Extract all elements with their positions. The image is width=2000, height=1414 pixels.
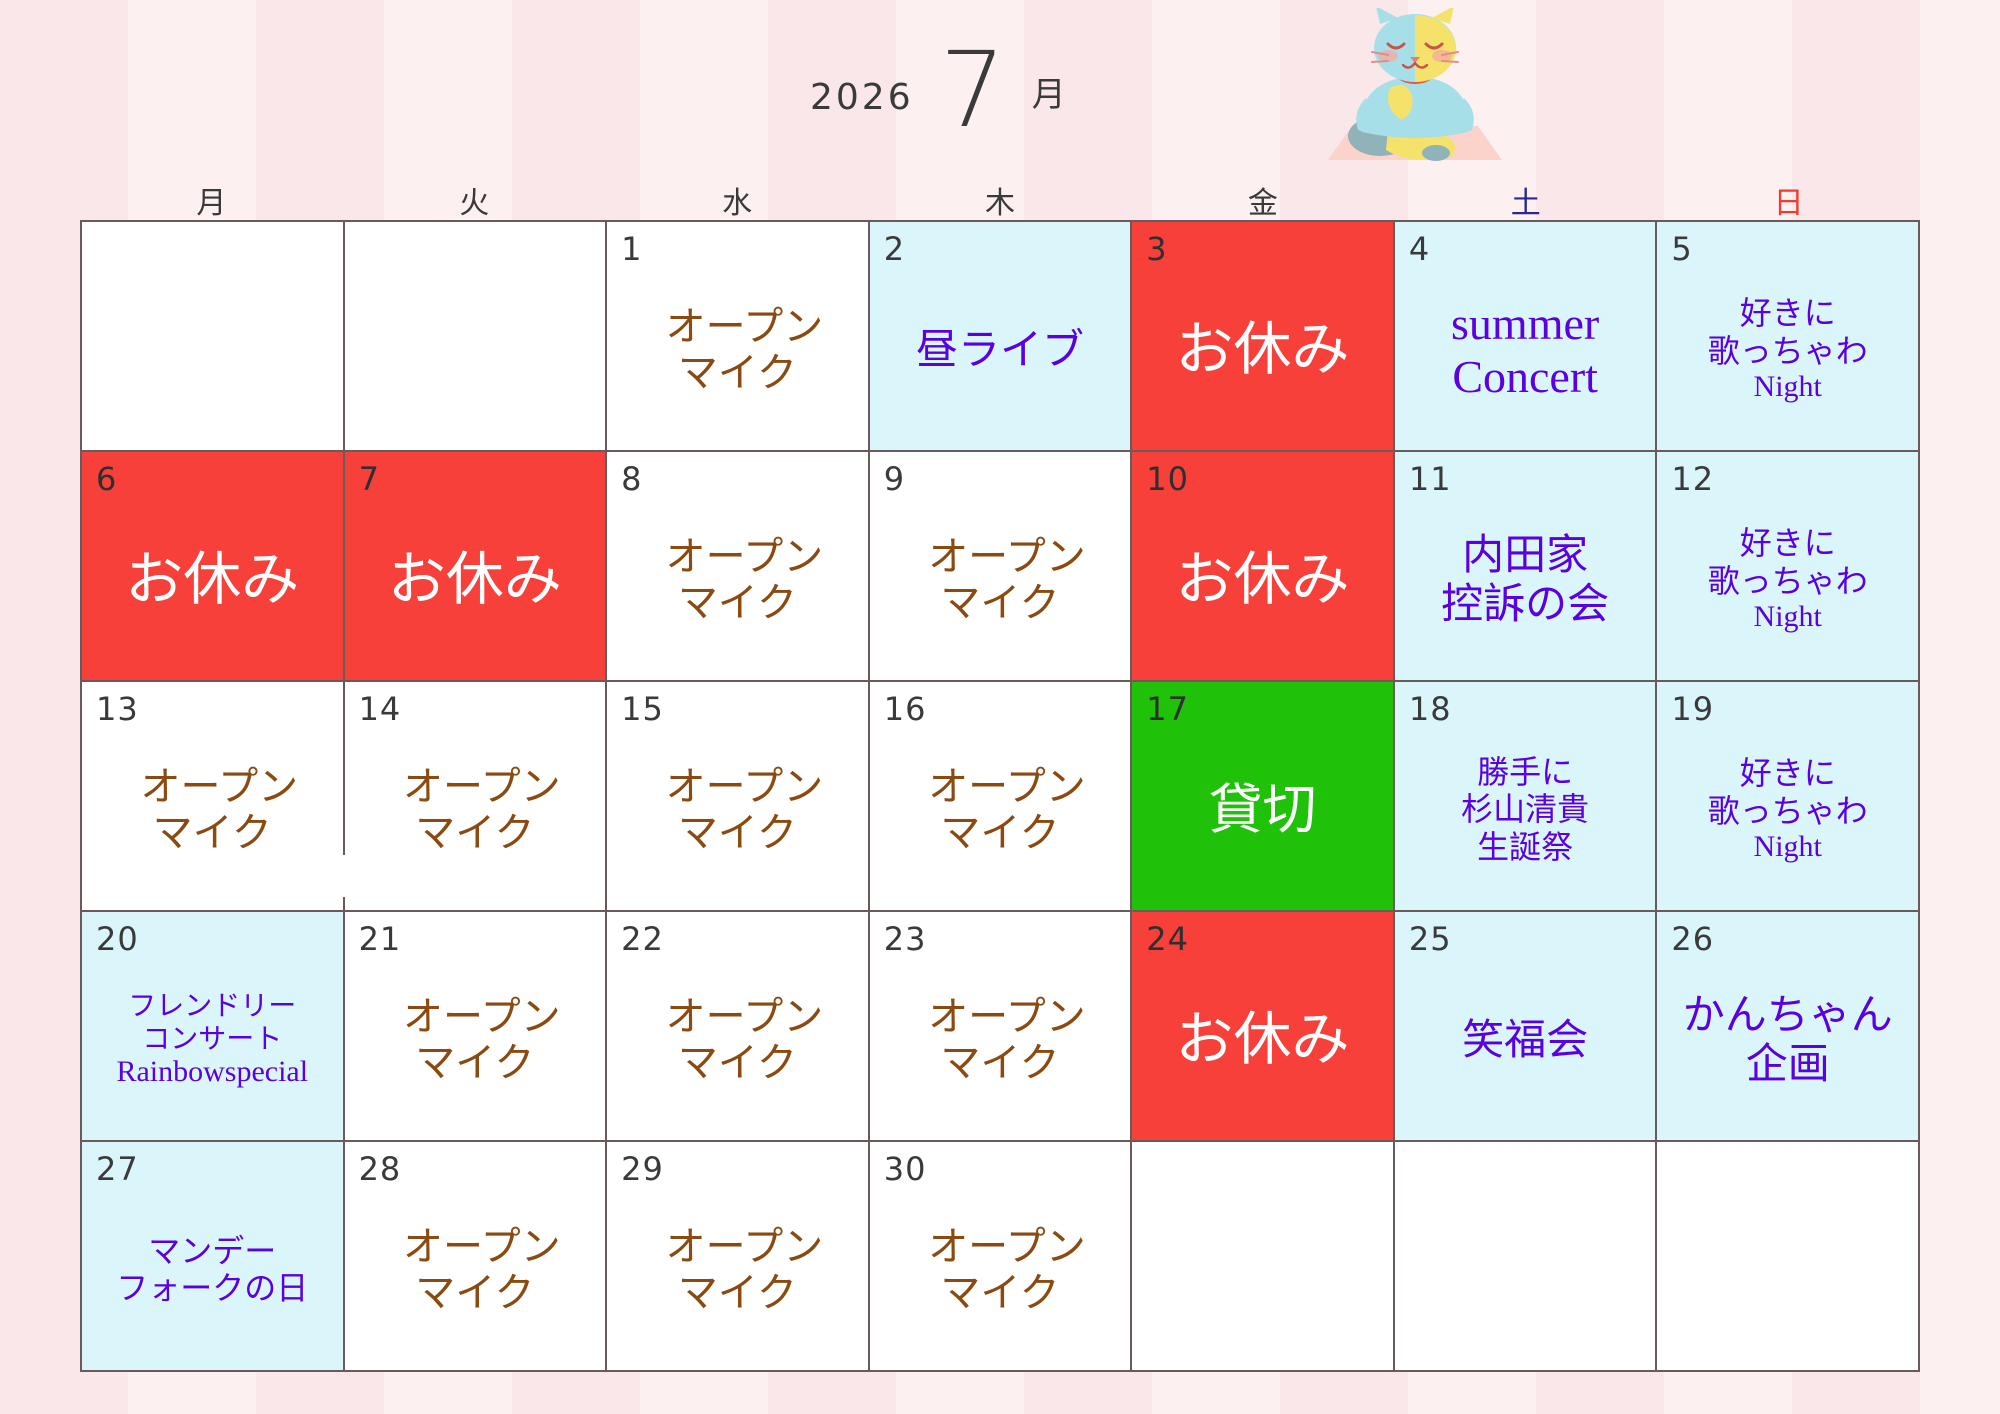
- day-number: 1: [621, 230, 642, 268]
- day-number: 22: [621, 920, 664, 958]
- event-line: マイク: [940, 1040, 1059, 1086]
- event-line: Night: [1754, 370, 1822, 405]
- day-event-text: お休み: [345, 486, 606, 674]
- day-event-text: 好きに歌っちゃわNight: [1657, 256, 1918, 444]
- event-line: 杉山清貴: [1461, 791, 1589, 828]
- day-event-text: オープンマイク: [870, 716, 1131, 904]
- day-event-text: オープンマイク: [607, 946, 868, 1134]
- event-line: 生誕祭: [1477, 829, 1573, 866]
- event-line: 歌っちゃわ: [1708, 333, 1868, 370]
- day-event-text: マンデーフォークの日: [82, 1176, 343, 1364]
- event-line: 内田家: [1462, 531, 1588, 580]
- event-line: オープン: [666, 304, 824, 350]
- event-line: オープン: [928, 534, 1086, 580]
- calendar-day-cell[interactable]: 10お休み: [1132, 452, 1395, 682]
- day-number: 5: [1671, 230, 1692, 268]
- event-line: マイク: [940, 1270, 1059, 1316]
- day-number: 12: [1671, 460, 1714, 498]
- day-event-text: お休み: [1132, 946, 1393, 1134]
- event-line: 好きに: [1740, 755, 1836, 792]
- calendar-day-cell[interactable]: 7お休み: [345, 452, 608, 682]
- day-event-text: オープンマイク: [870, 486, 1131, 674]
- grid-divider-gap: [342, 855, 345, 897]
- day-event-text: オープンマイク: [870, 946, 1131, 1134]
- event-line: 笑福会: [1462, 1016, 1588, 1065]
- day-number: 24: [1146, 920, 1189, 958]
- calendar-day-cell[interactable]: 23オープンマイク: [870, 912, 1133, 1142]
- day-event-text: オープンマイク: [345, 946, 606, 1134]
- day-number: 17: [1146, 690, 1189, 728]
- event-line: 企画: [1746, 1040, 1830, 1089]
- day-number: 19: [1671, 690, 1714, 728]
- day-event-text: 好きに歌っちゃわNight: [1657, 716, 1918, 904]
- month-number-label: 7: [940, 46, 1006, 134]
- event-line: オープン: [928, 994, 1086, 1040]
- day-event-text: 笑福会: [1395, 946, 1656, 1134]
- calendar-day-cell[interactable]: 16オープンマイク: [870, 682, 1133, 912]
- day-event-text: 昼ライブ: [870, 256, 1131, 444]
- day-number: 28: [359, 1150, 402, 1188]
- calendar-day-cell[interactable]: 18勝手に杉山清貴生誕祭: [1395, 682, 1658, 912]
- event-line: コンサート: [142, 1023, 282, 1055]
- calendar-day-cell[interactable]: 25笑福会: [1395, 912, 1658, 1142]
- event-line: マイク: [678, 1270, 797, 1316]
- calendar-day-cell[interactable]: 29オープンマイク: [607, 1142, 870, 1372]
- day-event-text: オープンマイク: [607, 256, 868, 444]
- event-line: マイク: [415, 1040, 534, 1086]
- weekday-label-sun: 日: [1657, 178, 1920, 224]
- day-number: 3: [1146, 230, 1167, 268]
- calendar-day-cell[interactable]: 4summerConcert: [1395, 222, 1658, 452]
- event-line: オープン: [403, 1224, 561, 1270]
- day-event-text: お休み: [1132, 256, 1393, 444]
- day-number: 16: [884, 690, 927, 728]
- event-line: オープン: [666, 1224, 824, 1270]
- day-number: 21: [359, 920, 402, 958]
- day-number: 6: [96, 460, 117, 498]
- calendar-day-cell[interactable]: 3お休み: [1132, 222, 1395, 452]
- event-line: マイク: [415, 1270, 534, 1316]
- day-event-text: 貸切: [1132, 716, 1393, 904]
- event-line: フォークの日: [116, 1270, 308, 1307]
- event-line: マイク: [678, 580, 797, 626]
- calendar-day-cell[interactable]: 13オープンマイク: [82, 682, 345, 912]
- weekday-label-mon: 月: [80, 178, 343, 224]
- event-line: Night: [1754, 830, 1822, 865]
- weekday-label-fri: 金: [1131, 178, 1394, 224]
- day-number: 15: [621, 690, 664, 728]
- weekday-label-wed: 水: [606, 178, 869, 224]
- day-number: 11: [1409, 460, 1452, 498]
- event-line: マイク: [153, 810, 272, 856]
- day-number: 10: [1146, 460, 1189, 498]
- day-number: 26: [1671, 920, 1714, 958]
- weekday-label-thu: 木: [869, 178, 1132, 224]
- year-label: 2026: [810, 77, 914, 134]
- event-line: オープン: [403, 764, 561, 810]
- calendar-day-cell[interactable]: 26かんちゃん企画: [1657, 912, 1920, 1142]
- event-line: お休み: [125, 546, 299, 613]
- event-line: 歌っちゃわ: [1708, 793, 1868, 830]
- event-line: Rainbowspecial: [116, 1055, 308, 1090]
- event-line: オープン: [403, 994, 561, 1040]
- calendar-grid: 1オープンマイク2昼ライブ3お休み4summerConcert5好きに歌っちゃわ…: [80, 220, 1920, 1372]
- event-line: 勝手に: [1477, 754, 1573, 791]
- meditating-cat-icon: [1310, 8, 1520, 163]
- weekday-label-tue: 火: [343, 178, 606, 224]
- weekday-label-sat: 土: [1394, 178, 1657, 224]
- calendar-day-cell[interactable]: 27マンデーフォークの日: [82, 1142, 345, 1372]
- day-number: 27: [96, 1150, 139, 1188]
- day-event-text: オープンマイク: [607, 716, 868, 904]
- day-event-text: フレンドリーコンサートRainbowspecial: [82, 946, 343, 1134]
- day-number: 25: [1409, 920, 1452, 958]
- calendar-day-cell[interactable]: 24お休み: [1132, 912, 1395, 1142]
- event-line: Night: [1754, 600, 1822, 635]
- event-line: オープン: [666, 994, 824, 1040]
- day-number: 18: [1409, 690, 1452, 728]
- day-event-text: お休み: [1132, 486, 1393, 674]
- event-line: オープン: [140, 764, 298, 810]
- day-event-text: オープンマイク: [607, 1176, 868, 1364]
- event-line: 好きに: [1740, 525, 1836, 562]
- calendar-day-cell[interactable]: 1オープンマイク: [607, 222, 870, 452]
- calendar-day-cell[interactable]: 2昼ライブ: [870, 222, 1133, 452]
- day-number: 23: [884, 920, 927, 958]
- calendar-page: 2026 7 月: [0, 0, 2000, 1414]
- event-line: 好きに: [1740, 295, 1836, 332]
- calendar-empty-cell: [1132, 1142, 1395, 1372]
- event-line: マイク: [940, 580, 1059, 626]
- day-number: 13: [96, 690, 139, 728]
- day-number: 14: [359, 690, 402, 728]
- event-line: マイク: [678, 1040, 797, 1086]
- calendar-day-cell[interactable]: 30オープンマイク: [870, 1142, 1133, 1372]
- calendar-day-cell[interactable]: 19好きに歌っちゃわNight: [1657, 682, 1920, 912]
- event-line: お休み: [1176, 546, 1350, 613]
- calendar-day-cell[interactable]: 22オープンマイク: [607, 912, 870, 1142]
- event-line: オープン: [666, 534, 824, 580]
- event-line: オープン: [666, 764, 824, 810]
- event-line: かんちゃん: [1683, 991, 1893, 1040]
- calendar-day-cell[interactable]: 28オープンマイク: [345, 1142, 608, 1372]
- calendar-day-cell[interactable]: 14オープンマイク: [345, 682, 608, 912]
- event-line: マイク: [415, 810, 534, 856]
- calendar-day-cell[interactable]: 5好きに歌っちゃわNight: [1657, 222, 1920, 452]
- calendar-empty-cell: [82, 222, 345, 452]
- event-line: マイク: [678, 810, 797, 856]
- calendar-day-cell[interactable]: 6お休み: [82, 452, 345, 682]
- calendar-day-cell[interactable]: 8オープンマイク: [607, 452, 870, 682]
- calendar-day-cell[interactable]: 15オープンマイク: [607, 682, 870, 912]
- day-event-text: オープンマイク: [345, 716, 606, 904]
- calendar-day-cell[interactable]: 12好きに歌っちゃわNight: [1657, 452, 1920, 682]
- day-event-text: 好きに歌っちゃわNight: [1657, 486, 1918, 674]
- event-line: 歌っちゃわ: [1708, 563, 1868, 600]
- event-line: フレンドリー: [128, 990, 296, 1022]
- calendar-day-cell[interactable]: 17貸切: [1132, 682, 1395, 912]
- calendar-empty-cell: [1657, 1142, 1920, 1372]
- day-event-text: summerConcert: [1395, 256, 1656, 444]
- calendar-day-cell[interactable]: 21オープンマイク: [345, 912, 608, 1142]
- day-event-text: 勝手に杉山清貴生誕祭: [1395, 716, 1656, 904]
- month-suffix-label: 月: [1032, 67, 1066, 134]
- day-event-text: 内田家控訴の会: [1395, 486, 1656, 674]
- event-line: マイク: [940, 810, 1059, 856]
- day-number: 4: [1409, 230, 1430, 268]
- event-line: 貸切: [1209, 779, 1317, 842]
- event-line: お休み: [1176, 1006, 1350, 1073]
- event-line: お休み: [1176, 316, 1350, 383]
- month-title-block: 2026 7 月: [810, 46, 1066, 134]
- event-line: マイク: [678, 350, 797, 396]
- day-number: 9: [884, 460, 905, 498]
- event-line: お休み: [388, 546, 562, 613]
- day-number: 29: [621, 1150, 664, 1188]
- weekday-header-row: 月 火 水 木 金 土 日: [80, 178, 1920, 220]
- event-line: summer: [1451, 297, 1599, 350]
- calendar-empty-cell: [345, 222, 608, 452]
- calendar-header: 2026 7 月: [0, 0, 2000, 200]
- calendar-empty-cell: [1395, 1142, 1658, 1372]
- calendar-day-cell[interactable]: 9オープンマイク: [870, 452, 1133, 682]
- day-event-text: お休み: [82, 486, 343, 674]
- day-number: 20: [96, 920, 139, 958]
- day-event-text: オープンマイク: [870, 1176, 1131, 1364]
- event-line: オープン: [928, 764, 1086, 810]
- day-number: 2: [884, 230, 905, 268]
- event-line: Concert: [1452, 350, 1598, 403]
- day-event-text: オープンマイク: [82, 716, 343, 904]
- day-number: 8: [621, 460, 642, 498]
- calendar-day-cell[interactable]: 11内田家控訴の会: [1395, 452, 1658, 682]
- day-number: 30: [884, 1150, 927, 1188]
- day-event-text: オープンマイク: [607, 486, 868, 674]
- day-event-text: かんちゃん企画: [1657, 946, 1918, 1134]
- event-line: マンデー: [148, 1233, 276, 1270]
- day-event-text: オープンマイク: [345, 1176, 606, 1364]
- event-line: 昼ライブ: [916, 326, 1084, 375]
- event-line: 控訴の会: [1441, 580, 1609, 629]
- event-line: オープン: [928, 1224, 1086, 1270]
- day-number: 7: [359, 460, 380, 498]
- calendar-day-cell[interactable]: 20フレンドリーコンサートRainbowspecial: [82, 912, 345, 1142]
